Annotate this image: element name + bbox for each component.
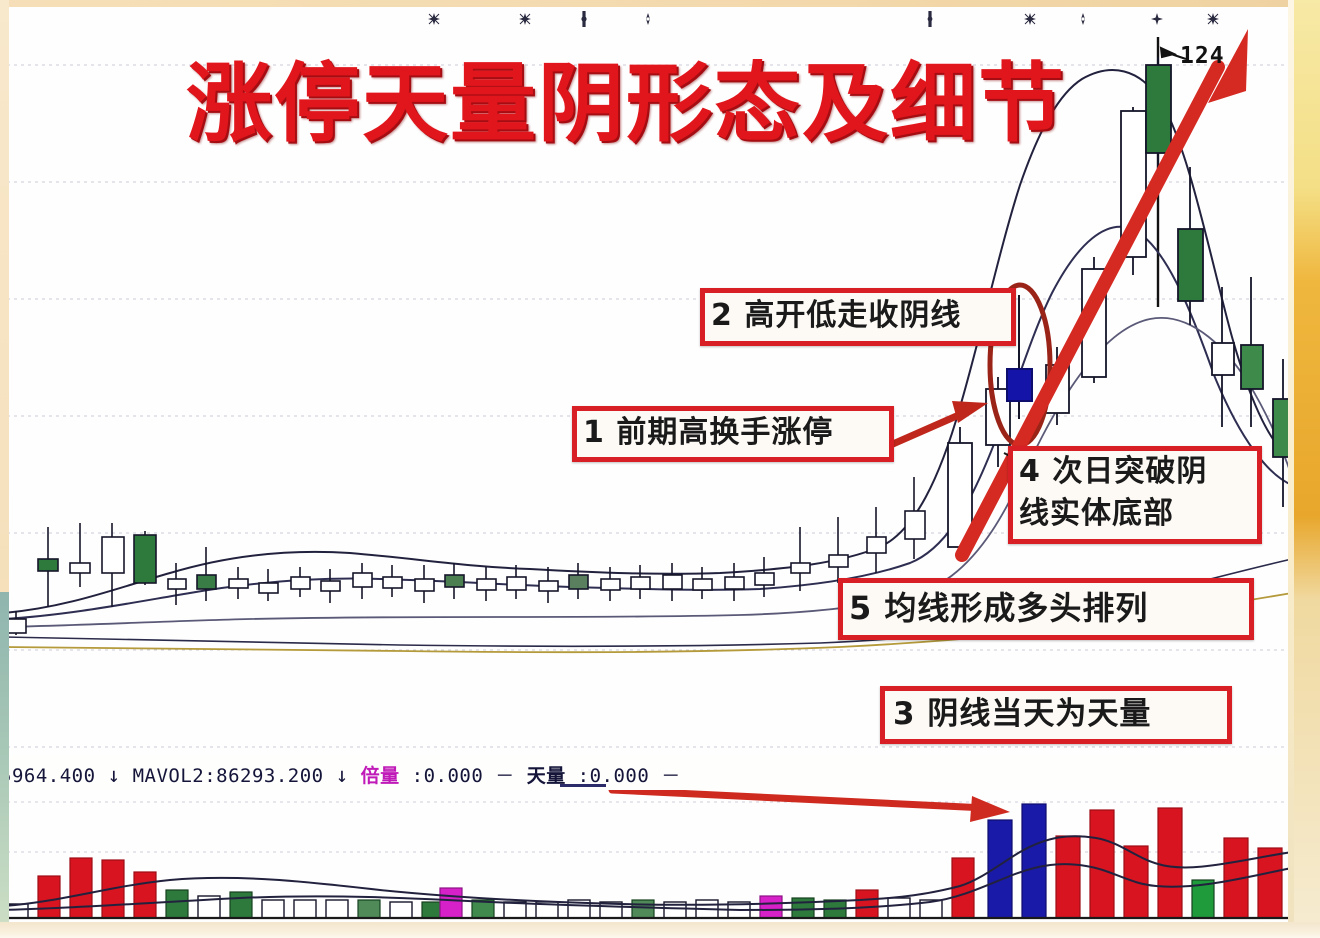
annotation-box-3[interactable]: 3 阴线当天为天量: [880, 686, 1232, 744]
price-axis-marker-label: 124: [1180, 43, 1225, 69]
candle: [755, 557, 774, 597]
status-beiliang-value: :0.000: [412, 761, 484, 791]
volume-chart-svg: [0, 790, 1294, 922]
volume-chart-pane: [0, 790, 1294, 922]
annotation-5-text: 5 均线形成多头排列: [849, 583, 1249, 633]
volume-bar: [760, 896, 782, 918]
volume-bar: [1258, 848, 1282, 918]
candle: [507, 565, 526, 599]
candle: [38, 527, 58, 607]
volume-bar: [294, 900, 316, 918]
candle: [1178, 167, 1203, 325]
candle: [321, 569, 340, 603]
annotation-1-text: 1 前期高换手涨停: [583, 411, 889, 455]
volume-bar-key-tianliang: [988, 820, 1012, 918]
candle: [539, 567, 558, 603]
status-bar-underline: [560, 784, 606, 787]
page-edge-right: [1294, 0, 1320, 938]
candle: [829, 517, 848, 583]
candle: [663, 563, 682, 601]
candle: [905, 477, 925, 559]
volume-bar: [38, 876, 60, 918]
volume-bar-key-breakout: [1022, 804, 1046, 918]
candle: [197, 547, 216, 601]
page-edge-top: [0, 0, 1320, 7]
volume-bar: [632, 900, 654, 918]
candle: [725, 563, 744, 601]
candle: [102, 523, 124, 607]
annotation-4-text-line2: 线实体底部: [1019, 493, 1257, 535]
candle: [415, 565, 434, 603]
status-beiliang-label: 倍量: [361, 761, 400, 791]
candle: [353, 563, 372, 599]
status-separator-1: －: [495, 761, 515, 791]
page-title: 涨停天量阴形态及细节: [176, 56, 1076, 152]
annotation-box-1[interactable]: 1 前期高换手涨停: [572, 406, 894, 462]
candle: [867, 507, 886, 573]
volume-bar: [856, 890, 878, 918]
volume-bar: [230, 892, 252, 918]
candle: [791, 527, 810, 591]
chart-screenshot: 涨停天量阴形态及细节 124 2 高开低走收阴线 1 前期高换手涨停 4 次日突…: [0, 0, 1320, 938]
candle: [229, 567, 248, 599]
candle: [477, 567, 496, 601]
status-arrow-down-icon-1: ↓: [107, 760, 120, 790]
volume-bar: [1090, 810, 1114, 918]
volume-bar: [390, 902, 412, 918]
candle: [383, 565, 402, 597]
page-edge-bottom: [0, 922, 1320, 938]
anno-1-pointer-arrow-icon: [886, 401, 988, 447]
volume-bar: [504, 902, 526, 918]
annotation-box-2[interactable]: 2 高开低走收阴线: [700, 288, 1016, 346]
annotation-4-text-line1: 4 次日突破阴: [1019, 451, 1257, 493]
volume-bar: [262, 900, 284, 918]
volume-bar: [792, 898, 814, 918]
annotation-box-5[interactable]: 5 均线形成多头排列: [838, 578, 1254, 640]
candle: [6, 611, 26, 635]
volume-bar: [358, 900, 380, 918]
status-arrow-down-icon-2: ↓: [336, 760, 349, 790]
candle: [291, 567, 310, 597]
volume-bar: [134, 872, 156, 918]
annotation-2-text: 2 高开低走收阴线: [711, 293, 1011, 339]
candle: [445, 563, 464, 599]
candle: [569, 563, 588, 599]
page-edge-left-upper: [0, 0, 9, 592]
top-marker-icons: [428, 11, 1219, 27]
candle: [631, 565, 650, 599]
candle: [259, 569, 278, 601]
volume-bar: [166, 890, 188, 918]
candle: [134, 531, 156, 585]
volume-bar: [1158, 808, 1182, 918]
annotation-3-text: 3 阴线当天为天量: [893, 691, 1227, 737]
volume-bar-magenta: [440, 888, 462, 918]
annotation-box-4[interactable]: 4 次日突破阴 线实体底部: [1008, 446, 1262, 544]
volume-bar: [888, 898, 910, 918]
candle: [70, 523, 90, 587]
page-edge-left-lower: [0, 592, 9, 938]
candle: [1212, 287, 1234, 427]
status-separator-2: －: [661, 761, 681, 791]
candle: [1241, 277, 1263, 427]
volume-bar: [326, 900, 348, 918]
indicator-status-bar: 5964.400 ↓ MAVOL2:86293.200 ↓ 倍量 :0.000 …: [0, 760, 1294, 790]
status-value: 5964.400: [0, 761, 96, 791]
candle: [693, 567, 712, 599]
volume-pointer-arrow-icon: [612, 790, 1010, 822]
volume-bar: [1056, 836, 1080, 918]
volume-bar: [70, 858, 92, 918]
status-mavol-label: MAVOL2:86293.200: [133, 761, 324, 791]
